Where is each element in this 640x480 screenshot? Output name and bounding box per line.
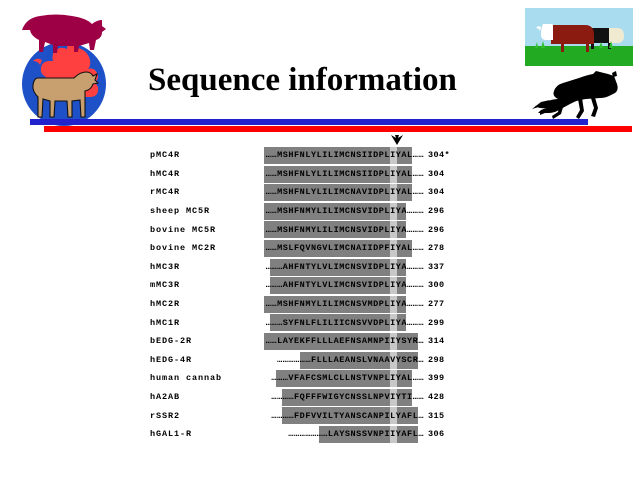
sequence-label: hMC3R xyxy=(150,262,248,272)
galloping-horse-silhouette xyxy=(520,70,632,122)
sequence-residues: …………FQFFFWIGYCNSSLNPVIYTI…… xyxy=(248,392,424,402)
alignment-row: rSSR2…………FDFVVILTYANSCANPILYAFL…315 xyxy=(150,406,450,425)
divider-bar-blue xyxy=(30,119,588,125)
sequence-residues: ……MSHFNLYLILIMCNSIIDPLIYAL…… xyxy=(248,169,424,179)
alignment-row: mMC3R………AHFNTYLVLIMCNSVIDPLIYA………300 xyxy=(150,276,450,295)
sequence-label: hEDG-4R xyxy=(150,355,248,365)
sequence-label: bEDG-2R xyxy=(150,336,248,346)
sequence-residues: …………FDFVVILTYANSCANPILYAFL… xyxy=(248,411,424,421)
residue-position-number: 314 xyxy=(428,336,445,346)
residue-position-number: 296 xyxy=(428,225,445,235)
sequence-residues: ……MSHFNLYLILIMCNAVIDPLIYAL…… xyxy=(248,187,424,197)
alignment-row: hGAL1-R…………………LAYSNSSVNPIIYAFL…306 xyxy=(150,425,450,444)
slide-canvas: Sequence information pMC4R……MSHFNLYLILIM… xyxy=(0,0,640,480)
sequence-residues: ……MSHFNMYLILIMCNSVMDPLIYA……… xyxy=(248,299,424,309)
sequence-label: sheep MC5R xyxy=(150,206,248,216)
sequence-residues: ……MSHFNMYLILIMCNSVIDPLIYA……… xyxy=(248,206,424,216)
residue-position-number: 306 xyxy=(428,429,445,439)
sequence-residues: ………AHFNTYLVLIMCNSVIDPLIYA……… xyxy=(248,262,424,272)
down-arrow-marker xyxy=(390,133,404,145)
sequence-label: hGAL1-R xyxy=(150,429,248,439)
sequence-residues: ………SYFNLFLILIICNSVVDPLIYA……… xyxy=(248,318,424,328)
photo-grass xyxy=(525,46,633,66)
residue-position-number: 277 xyxy=(428,299,445,309)
sequence-label: hA2AB xyxy=(150,392,248,402)
sequence-residues: ……MSHFNLYLILIMCNSIIDPLIYAL…… xyxy=(248,150,424,160)
alignment-row: sheep MC5R……MSHFNMYLILIMCNSVIDPLIYA………29… xyxy=(150,202,450,221)
alignment-row: human cannab………VFAFCSMLCLLNSTVNPLIYAL……3… xyxy=(150,369,450,388)
sequence-label: mMC3R xyxy=(150,280,248,290)
residue-position-number: 299 xyxy=(428,318,445,328)
alignment-row: bovine MC5R……MSHFNMYLILIMCNSVIDPLIYA………2… xyxy=(150,220,450,239)
horse-body-shape xyxy=(532,71,618,119)
alignment-row: hA2AB…………FQFFFWIGYCNSSLNPVIYTI……428 xyxy=(150,388,450,407)
page-title: Sequence information xyxy=(148,60,457,100)
sequence-residues: ……MSHFNMYLILIMCNSVIDPLIYA……… xyxy=(248,225,424,235)
alignment-row: hMC1R………SYFNLFLILIICNSVVDPLIYA………299 xyxy=(150,313,450,332)
residue-position-number: 315 xyxy=(428,411,445,421)
alignment-row: rMC4R……MSHFNLYLILIMCNAVIDPLIYAL……304 xyxy=(150,183,450,202)
sequence-residues: ………VFAFCSMLCLLNSTVNPLIYAL…… xyxy=(248,373,424,383)
residue-position-number: 298 xyxy=(428,355,445,365)
sequence-residues: …………………LAYSNSSVNPIIYAFL… xyxy=(248,429,424,439)
sequence-label: bovine MC2R xyxy=(150,243,248,253)
sequence-label: hMC2R xyxy=(150,299,248,309)
alignment-row: hMC2R……MSHFNMYLILIMCNSVMDPLIYA………277 xyxy=(150,295,450,314)
alignment-row: hMC3R………AHFNTYLVLIMCNSVIDPLIYA………337 xyxy=(150,258,450,277)
sequence-label: bovine MC5R xyxy=(150,225,248,235)
sequence-label: pMC4R xyxy=(150,150,248,160)
alignment-row: hMC4R……MSHFNLYLILIMCNSIIDPLIYAL……304 xyxy=(150,165,450,184)
residue-position-number: 399 xyxy=(428,373,445,383)
divider-bar-red xyxy=(44,126,632,132)
sequence-label: rSSR2 xyxy=(150,411,248,421)
sequence-alignment-table: pMC4R……MSHFNLYLILIMCNSIIDPLIYAL……304*hMC… xyxy=(150,146,450,444)
sequence-residues: ……MSLFQVNGVLIMCNAIIDPFIYAL…… xyxy=(248,243,424,253)
residue-position-number: 428 xyxy=(428,392,445,402)
farm-animals-logo xyxy=(8,8,120,128)
residue-position-number: 337 xyxy=(428,262,445,272)
alignment-row: bovine MC2R……MSLFQVNGVLIMCNAIIDPFIYAL……2… xyxy=(150,239,450,258)
residue-position-number: 304 xyxy=(428,187,445,197)
sequence-residues: ……LAYEKFFLLLAEFNSAMNPIIYSYR… xyxy=(248,336,424,346)
residue-position-number: 304 xyxy=(428,169,445,179)
sequence-label: hMC1R xyxy=(150,318,248,328)
residue-position-number: 278 xyxy=(428,243,445,253)
sequence-label: rMC4R xyxy=(150,187,248,197)
cattle-in-field-photo xyxy=(525,8,633,66)
sequence-label: hMC4R xyxy=(150,169,248,179)
alignment-row: bEDG-2R……LAYEKFFLLLAEFNSAMNPIIYSYR…314 xyxy=(150,332,450,351)
residue-position-number: 300 xyxy=(428,280,445,290)
residue-position-number: 296 xyxy=(428,206,445,216)
alignment-row: pMC4R……MSHFNLYLILIMCNSIIDPLIYAL……304* xyxy=(150,146,450,165)
sequence-residues: ………………FLLLAEANSLVNAAVYSCR… xyxy=(248,355,424,365)
alignment-row: hEDG-4R………………FLLLAEANSLVNAAVYSCR…298 xyxy=(150,351,450,370)
sequence-residues: ………AHFNTYLVLIMCNSVIDPLIYA……… xyxy=(248,280,424,290)
sequence-label: human cannab xyxy=(150,373,248,383)
residue-position-number: 304* xyxy=(428,150,450,160)
